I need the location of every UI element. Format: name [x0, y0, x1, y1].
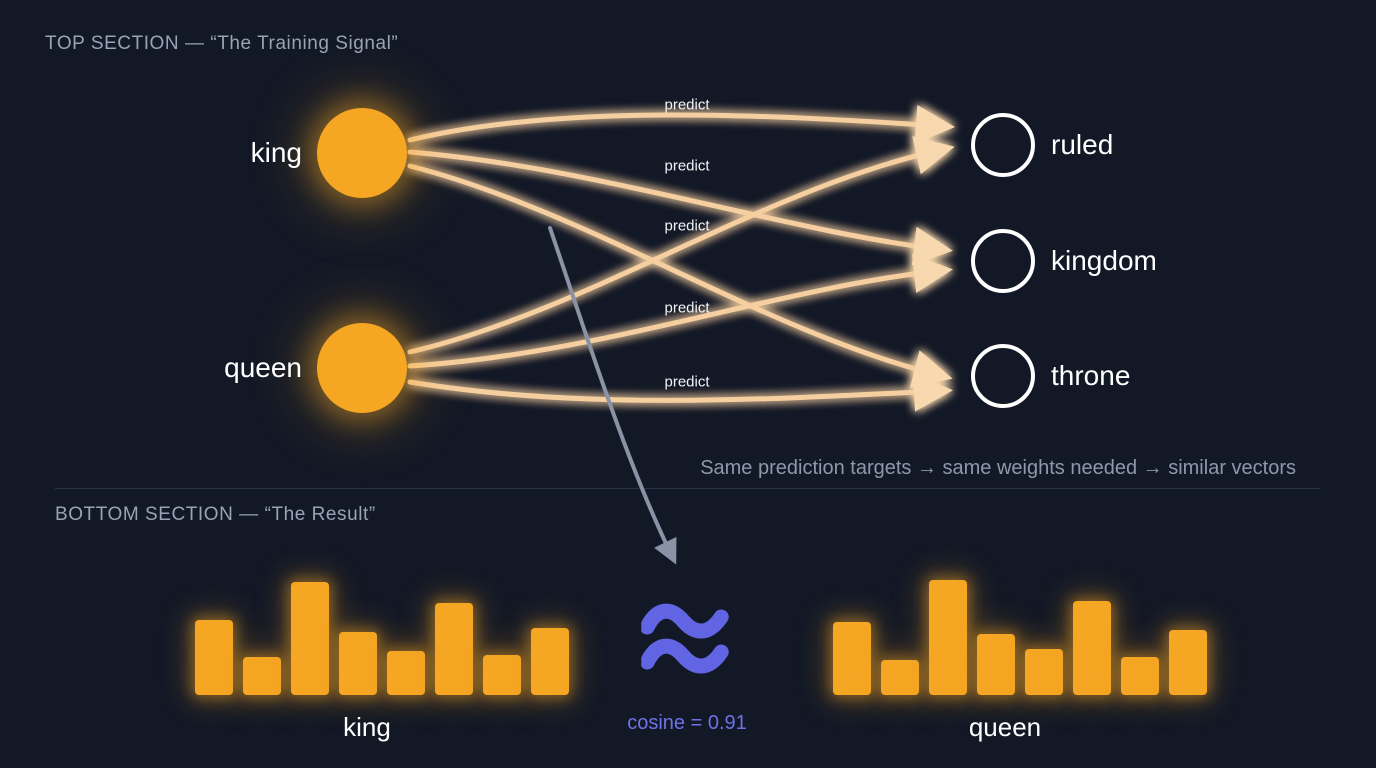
bar: [483, 655, 521, 695]
bar: [1025, 649, 1063, 695]
bar: [1169, 630, 1207, 695]
vector-barchart-queen: [833, 575, 1183, 695]
cosine-similarity-value: cosine = 0.91: [627, 712, 747, 735]
target-node-kingdom[interactable]: [971, 229, 1035, 293]
bar: [1073, 601, 1111, 695]
vector-barchart-king: [195, 575, 545, 695]
target-node-throne[interactable]: [971, 344, 1035, 408]
bar: [195, 620, 233, 695]
source-node-king-label: king: [120, 139, 302, 167]
approximately-equal-icon: [641, 600, 733, 686]
source-node-king[interactable]: [317, 108, 407, 198]
target-node-ruled[interactable]: [971, 113, 1035, 177]
edge-queen-kingdom: [410, 271, 938, 366]
bottom-section-label: BOTTOM SECTION — “The Result”: [55, 504, 376, 526]
target-node-throne-label: throne: [1051, 362, 1130, 390]
training-signal-caption: Same prediction targets → same weights n…: [700, 457, 1296, 480]
bar: [243, 657, 281, 695]
bar: [531, 628, 569, 695]
edge-label-predict-3: predict: [664, 218, 709, 235]
vector-barchart-king-label: king: [343, 712, 391, 743]
edge-label-predict-2: predict: [664, 158, 709, 175]
edge-label-predict-5: predict: [664, 374, 709, 391]
bar: [833, 622, 871, 695]
source-node-queen[interactable]: [317, 323, 407, 413]
target-node-kingdom-label: kingdom: [1051, 247, 1157, 275]
vector-barchart-queen-label: queen: [969, 712, 1041, 743]
bar: [339, 632, 377, 695]
bar: [435, 603, 473, 695]
target-node-ruled-label: ruled: [1051, 131, 1113, 159]
bar: [881, 660, 919, 695]
bar: [387, 651, 425, 695]
guidance-arrow: [550, 228, 672, 556]
edge-label-predict-1: predict: [664, 97, 709, 114]
top-section-label: TOP SECTION — “The Training Signal”: [45, 33, 398, 55]
diagram-canvas: TOP SECTION — “The Training Signal” BOTT…: [0, 0, 1376, 768]
source-node-queen-label: queen: [120, 354, 302, 382]
bar: [977, 634, 1015, 695]
edge-queen-ruled: [410, 150, 940, 352]
section-divider: [55, 488, 1320, 489]
similarity-block: cosine = 0.91: [627, 600, 747, 735]
bar: [1121, 657, 1159, 695]
bar: [929, 580, 967, 695]
edge-label-predict-4: predict: [664, 300, 709, 317]
edge-king-throne: [410, 166, 938, 375]
bar: [291, 582, 329, 695]
edge-king-ruled: [410, 115, 940, 140]
